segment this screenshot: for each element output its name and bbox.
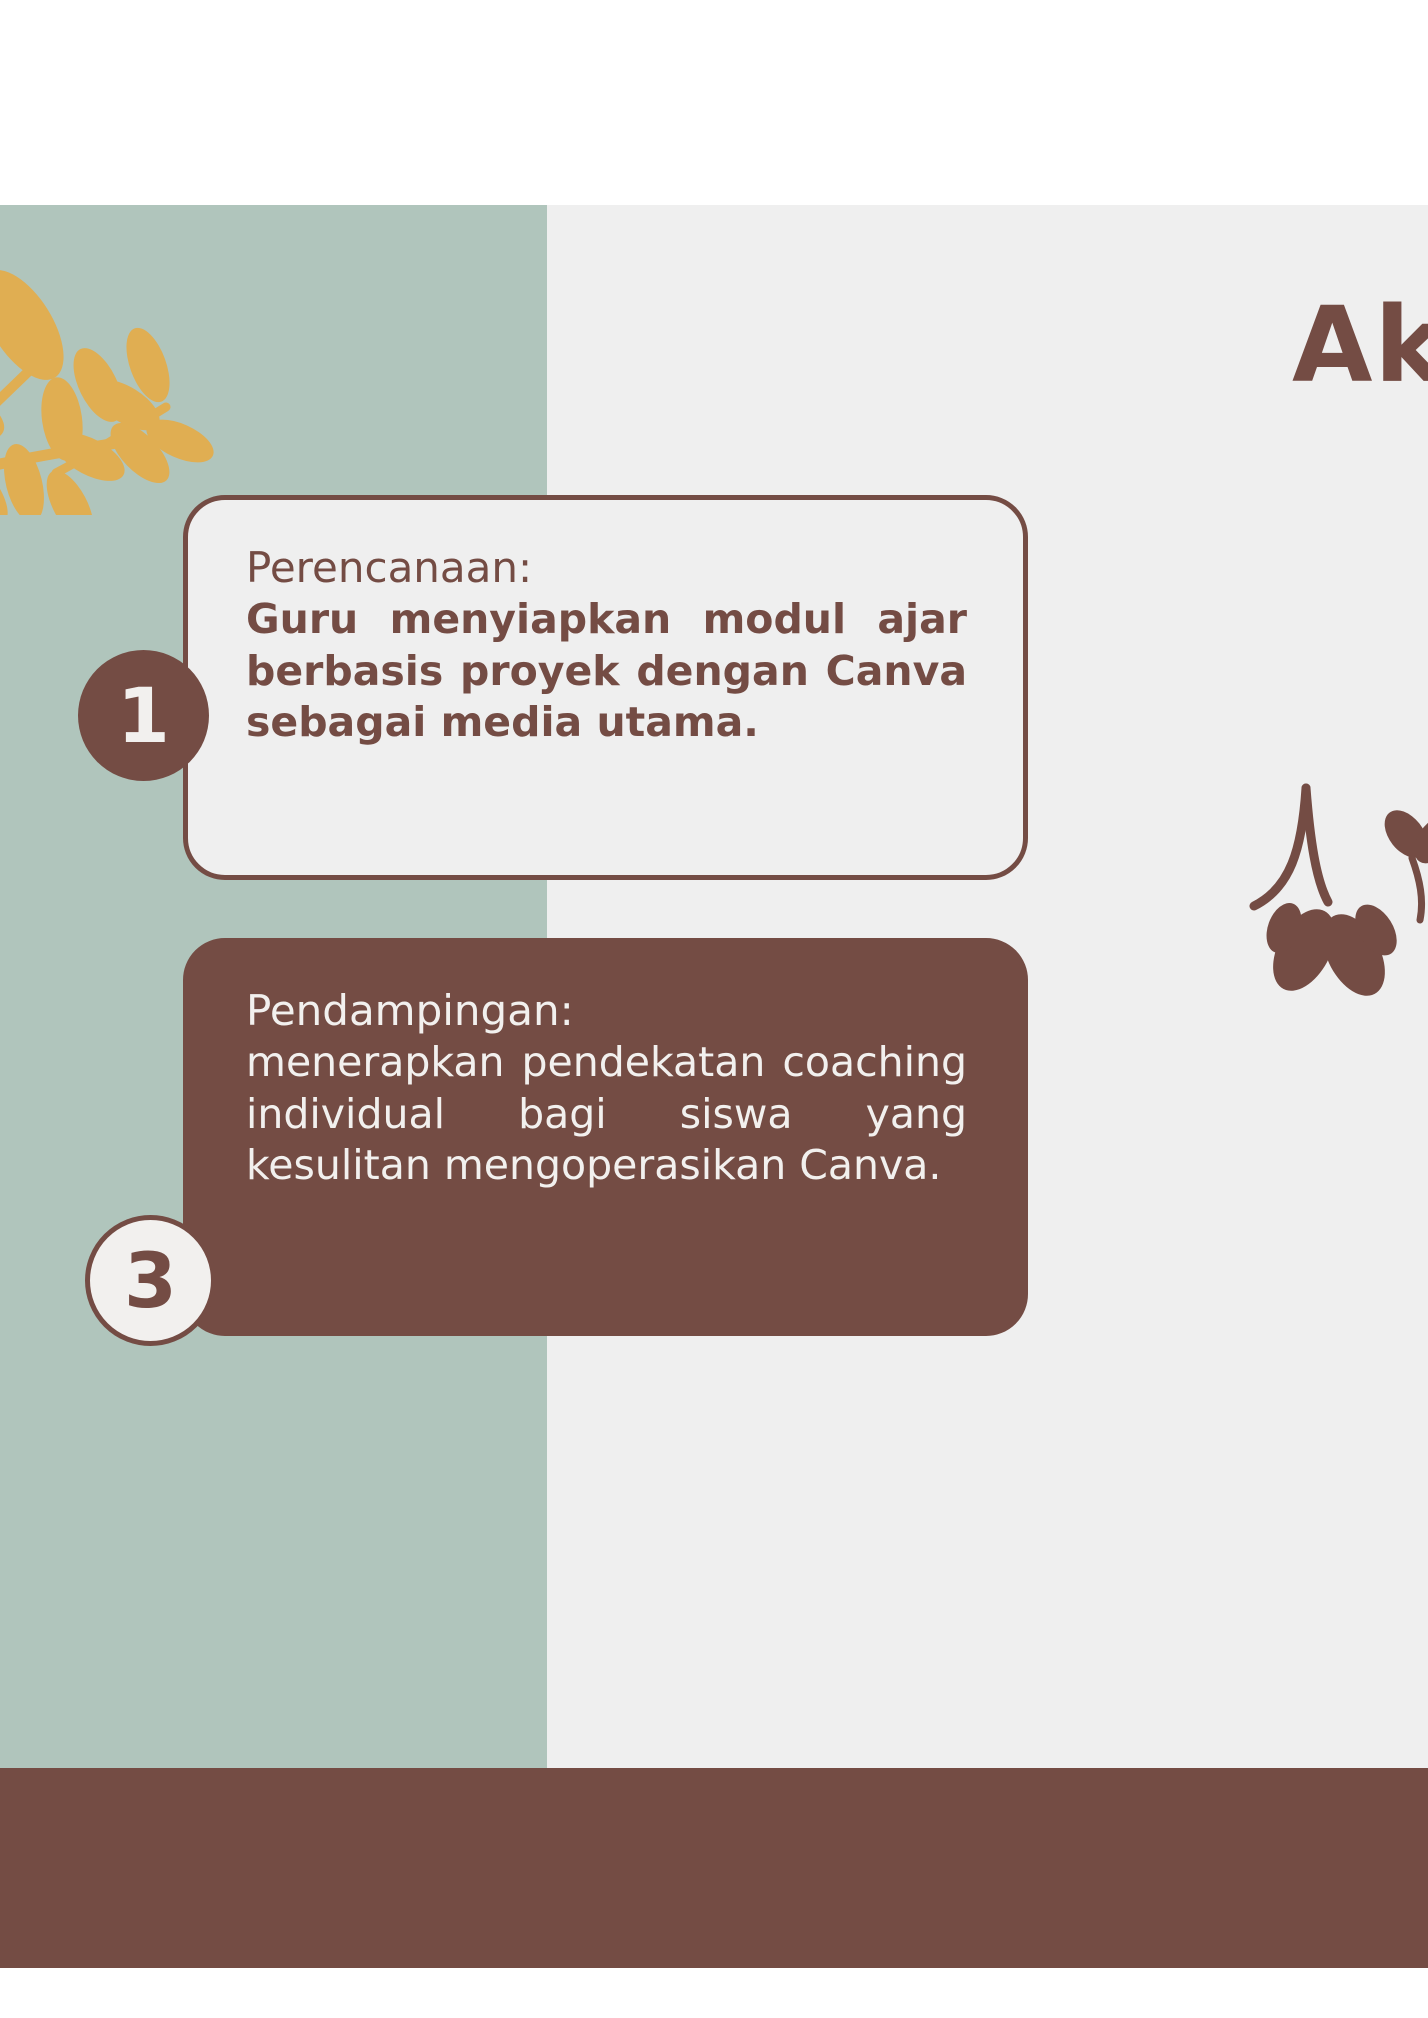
step-card-2: Pendampingan: menerapkan pendekatan coac…: [183, 938, 1028, 1336]
page-title: Ak: [1292, 293, 1428, 397]
step-badge-2: 3: [85, 1215, 216, 1346]
step-card-2-title: Pendampingan:: [246, 989, 967, 1033]
footer-bar: [0, 1768, 1428, 1968]
step-card-1: Perencanaan: Guru menyiapkan modul ajar …: [183, 495, 1028, 880]
step-card-1-title: Perencanaan:: [246, 546, 967, 590]
slide-canvas: Ak Perencanaan: Guru menyiapkan modul aj…: [0, 205, 1428, 1768]
step-card-2-body: menerapkan pendekatan coaching individua…: [246, 1037, 967, 1192]
step-card-1-body: Guru menyiapkan modul ajar berbasis proy…: [246, 594, 967, 749]
step-badge-1: 1: [78, 650, 209, 781]
